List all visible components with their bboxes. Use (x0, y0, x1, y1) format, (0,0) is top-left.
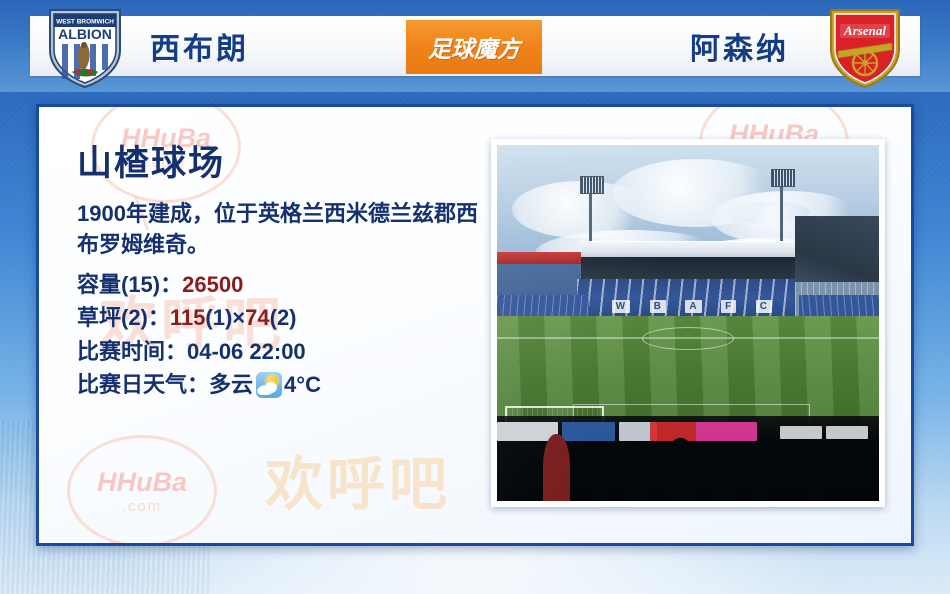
wba-seat-lettering: WBAFC (612, 296, 772, 317)
watermark-domain: .com (122, 498, 163, 515)
svg-text:WEST BROMWICH: WEST BROMWICH (56, 19, 114, 26)
spectator-silhouette (803, 460, 826, 501)
pitch-width-value: 74 (245, 305, 269, 330)
stadium-photo: WBAFC (497, 145, 879, 501)
stadium-info-text: 山楂球场 1900年建成，位于英格兰西米德兰兹郡西布罗姆维奇。 容量(15)：2… (77, 145, 497, 402)
advert-board (826, 426, 868, 440)
match-time-label: 比赛时间： (77, 339, 187, 364)
home-team-name: 西布朗 (150, 24, 249, 68)
spectator-silhouette (711, 445, 738, 501)
weather-label: 比赛日天气： (77, 368, 209, 401)
watermark-chinese: 欢呼吧 (265, 437, 451, 521)
away-team-name: 阿森纳 (690, 24, 789, 68)
advert-board (650, 422, 696, 441)
stadium-photo-frame[interactable]: WBAFC (491, 139, 885, 507)
pitch-width-rank: (2) (270, 305, 297, 330)
capacity-value: 26500 (182, 272, 243, 297)
pitch-length-rank: (1) (205, 305, 232, 330)
weather-row: 比赛日天气：多云 4°C (77, 368, 497, 401)
pitch-row: 草坪(2)：115(1)×74(2) (77, 301, 497, 334)
floodlight-pylon (780, 184, 783, 245)
spectator-silhouette (543, 434, 570, 501)
spectator-silhouette (665, 438, 696, 501)
left-stand-banner (497, 252, 581, 264)
sun-behind-cloud-icon (256, 372, 282, 398)
center-circle (642, 327, 734, 350)
match-time-row: 比赛时间：04-06 22:00 (77, 335, 497, 368)
stadium-title: 山楂球场 (77, 145, 497, 184)
capacity-label: 容量(15)： (77, 272, 182, 297)
advert-board (562, 422, 615, 441)
pitch-dimension-separator: × (232, 305, 245, 330)
watermark-bubble: HHuBa .com (67, 435, 217, 546)
spectator-silhouette (749, 453, 772, 501)
spectator-silhouette (589, 448, 612, 501)
capacity-row: 容量(15)：26500 (77, 268, 497, 301)
svg-text:Arsenal: Arsenal (843, 23, 886, 38)
arsenal-badge[interactable]: Arsenal (822, 6, 908, 90)
site-logo[interactable]: 足球魔方 (406, 20, 542, 74)
temperature-value: 4°C (284, 368, 321, 401)
pitch-label: 草坪(2)： (77, 305, 170, 330)
weather-condition: 多云 (209, 368, 253, 401)
west-bromwich-albion-badge[interactable]: WEST BROMWICH ALBION (42, 6, 128, 90)
advert-board (696, 422, 757, 441)
advert-board (780, 426, 822, 440)
match-header: WEST BROMWICH ALBION 西布朗 足球魔方 阿森纳 Arsena… (0, 0, 950, 92)
pitch-length-value: 115 (170, 305, 206, 330)
stadium-description: 1900年建成，位于英格兰西米德兰兹郡西布罗姆维奇。 (77, 198, 497, 260)
stadium-info-card: HHuBa .com HHuBa .com HHuBa .com 欢呼吧 欢呼吧… (36, 104, 914, 546)
spectator-silhouette (623, 441, 650, 501)
svg-text:ALBION: ALBION (58, 26, 112, 42)
foreground-crowd (497, 416, 879, 501)
match-time-value: 04-06 22:00 (187, 339, 306, 364)
watermark-brand: HHuBa (97, 467, 187, 498)
site-logo-text: 足球魔方 (428, 30, 520, 64)
main-stand-shadow (581, 257, 795, 280)
